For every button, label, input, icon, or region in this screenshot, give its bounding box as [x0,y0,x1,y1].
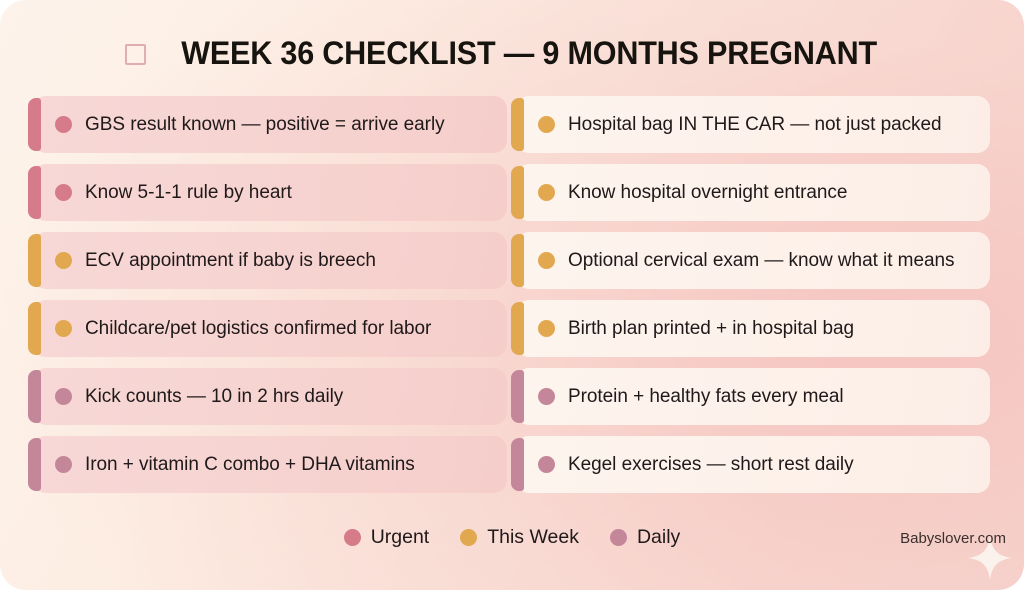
checklist-item[interactable]: Birth plan printed + in hospital bag [516,300,990,357]
legend: UrgentThis WeekDaily [0,522,1024,552]
category-dot-this-week-icon [55,320,72,337]
checklist-item[interactable]: Know hospital overnight entrance [516,164,990,221]
legend-dot-icon [610,529,627,546]
checklist-item[interactable]: ECV appointment if baby is breech [33,232,507,289]
checklist-item[interactable]: Know 5-1-1 rule by heart [33,164,507,221]
category-dot-this-week-icon [538,320,555,337]
checklist-item[interactable]: Kick counts — 10 in 2 hrs daily [33,368,507,425]
checklist-item-label: Kick counts — 10 in 2 hrs daily [85,386,343,408]
category-dot-this-week-icon [538,116,555,133]
legend-dot-icon [460,529,477,546]
category-dot-this-week-icon [538,252,555,269]
category-dot-this-week-icon [55,252,72,269]
checklist-item-label: Hospital bag IN THE CAR — not just packe… [568,114,942,136]
checklist-item-label: Birth plan printed + in hospital bag [568,318,854,340]
checklist-column-right: Hospital bag IN THE CAR — not just packe… [516,96,990,493]
category-dot-daily-icon [55,456,72,473]
category-dot-urgent-icon [55,116,72,133]
category-dot-daily-icon [538,388,555,405]
checklist-item[interactable]: GBS result known — positive = arrive ear… [33,96,507,153]
checklist-column-left: GBS result known — positive = arrive ear… [33,96,507,493]
checklist-item-label: ECV appointment if baby is breech [85,250,376,272]
checklist-item[interactable]: Hospital bag IN THE CAR — not just packe… [516,96,990,153]
page-title: WEEK 36 CHECKLIST — 9 MONTHS PREGNANT [0,30,1024,76]
watermark: Babyslover.com [900,524,1006,552]
checklist-item-label: Childcare/pet logistics confirmed for la… [85,318,431,340]
watermark-text: Babyslover.com [900,530,1006,547]
checklist-item-label: Kegel exercises — short rest daily [568,454,854,476]
checklist-item-label: Iron + vitamin C combo + DHA vitamins [85,454,415,476]
legend-item: This Week [460,526,579,549]
checklist-item-label: Optional cervical exam — know what it me… [568,250,954,272]
checklist-item-label: Protein + healthy fats every meal [568,386,844,408]
checklist-poster: WEEK 36 CHECKLIST — 9 MONTHS PREGNANT GB… [0,0,1024,590]
category-dot-daily-icon [538,456,555,473]
checklist-item[interactable]: Iron + vitamin C combo + DHA vitamins [33,436,507,493]
checklist-item[interactable]: Kegel exercises — short rest daily [516,436,990,493]
empty-checkbox-icon [125,44,146,65]
legend-label: Urgent [371,526,430,549]
page-title-text: WEEK 36 CHECKLIST — 9 MONTHS PREGNANT [181,35,877,72]
checklist-item[interactable]: Optional cervical exam — know what it me… [516,232,990,289]
legend-item: Urgent [344,526,430,549]
checklist-item-label: Know hospital overnight entrance [568,182,847,204]
legend-label: Daily [637,526,680,549]
category-dot-urgent-icon [55,184,72,201]
legend-label: This Week [487,526,579,549]
category-dot-this-week-icon [538,184,555,201]
legend-dot-icon [344,529,361,546]
checklist-item[interactable]: Protein + healthy fats every meal [516,368,990,425]
legend-item: Daily [610,526,680,549]
checklist-item-label: Know 5-1-1 rule by heart [85,182,292,204]
checklist-item-label: GBS result known — positive = arrive ear… [85,114,445,136]
checklist-item[interactable]: Childcare/pet logistics confirmed for la… [33,300,507,357]
category-dot-daily-icon [55,388,72,405]
